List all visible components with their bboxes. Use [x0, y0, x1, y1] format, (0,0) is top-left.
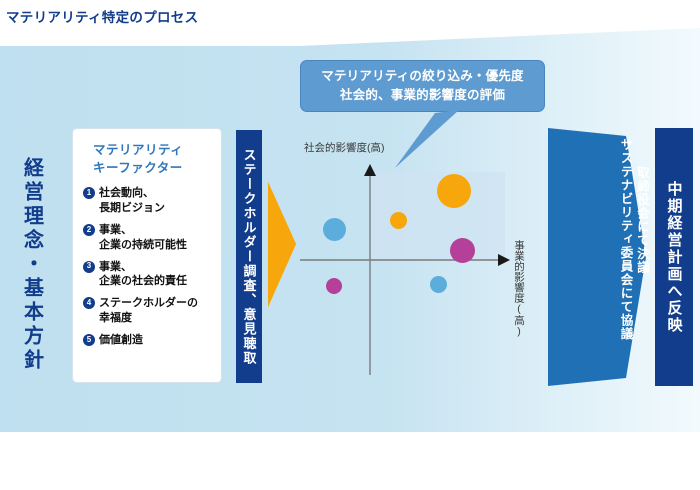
- bubble-magenta-right: [450, 238, 475, 263]
- materiality-matrix: 社会的影響度(高) 事業的影響度(高): [300, 140, 550, 385]
- list-number-icon: 5: [83, 334, 95, 346]
- mid-term-plan-label: 中期経営計画へ反映: [667, 181, 682, 334]
- speech-bubble: マテリアリティの絞り込み・優先度 社会的、事業的影響度の評価: [300, 60, 545, 112]
- list-item: 1 社会動向、 長期ビジョン: [83, 186, 211, 216]
- bubble-blue-lowright: [430, 276, 447, 293]
- orange-right-arrow-icon: [266, 182, 300, 312]
- list-item-line2: 幸福度: [99, 311, 198, 326]
- list-number-icon: 4: [83, 297, 95, 309]
- list-item-line1: 価値創造: [99, 333, 143, 348]
- bubble-line2: 社会的、事業的影響度の評価: [340, 86, 505, 105]
- diagram-root: マテリアリティ特定のプロセス 経営理念・基本方針 マテリアリティ キーファクター…: [0, 0, 700, 490]
- list-item-line2: 企業の社会的責任: [99, 274, 187, 289]
- key-factor-list: 1 社会動向、 長期ビジョン 2 事業、 企業の持続可能性 3 事業、 企業の社…: [83, 186, 211, 348]
- stakeholder-survey-label: ステークホルダー調査、意見聴取: [243, 148, 256, 366]
- list-item-line2: 長期ビジョン: [99, 201, 165, 216]
- bubble-magenta-lowleft: [326, 278, 342, 294]
- left-heading-management-philosophy: 経営理念・基本方針: [10, 150, 54, 380]
- materiality-key-factor-card: マテリアリティ キーファクター 1 社会動向、 長期ビジョン 2 事業、 企業の…: [72, 128, 222, 383]
- list-item: 4 ステークホルダーの 幸福度: [83, 296, 211, 326]
- list-item: 3 事業、 企業の社会的責任: [83, 260, 211, 290]
- list-item-line2: 企業の持続可能性: [99, 238, 187, 253]
- stakeholder-survey-bar: ステークホルダー調査、意見聴取: [236, 130, 262, 383]
- list-item: 2 事業、 企業の持続可能性: [83, 223, 211, 253]
- list-item-line1: 事業、: [99, 223, 187, 238]
- card-title: マテリアリティ キーファクター: [83, 141, 211, 177]
- list-item-line1: 社会動向、: [99, 186, 165, 201]
- bubble-orange-small: [390, 212, 407, 229]
- list-item-line1: 事業、: [99, 260, 187, 275]
- bubble-line1: マテリアリティの絞り込み・優先度: [321, 67, 523, 86]
- chevron-label-sustainability-committee: サステナビリティ委員会にて協議: [619, 138, 632, 341]
- list-number-icon: 3: [83, 261, 95, 273]
- list-number-icon: 1: [83, 187, 95, 199]
- card-title-line1: マテリアリティ: [93, 141, 211, 159]
- bubble-blue-left: [323, 218, 346, 241]
- chevron-label-board-resolution: 取締役会にて決議: [636, 166, 649, 274]
- mid-term-plan-bar: 中期経営計画へ反映: [655, 128, 693, 386]
- card-title-line2: キーファクター: [93, 159, 211, 177]
- list-item: 5 価値創造: [83, 333, 211, 348]
- list-number-icon: 2: [83, 224, 95, 236]
- sustainability-committee-chevron: 取締役会にて決議 サステナビリティ委員会にて協議: [548, 128, 648, 391]
- page-title: マテリアリティ特定のプロセス: [6, 6, 198, 26]
- list-item-line1: ステークホルダーの: [99, 296, 198, 311]
